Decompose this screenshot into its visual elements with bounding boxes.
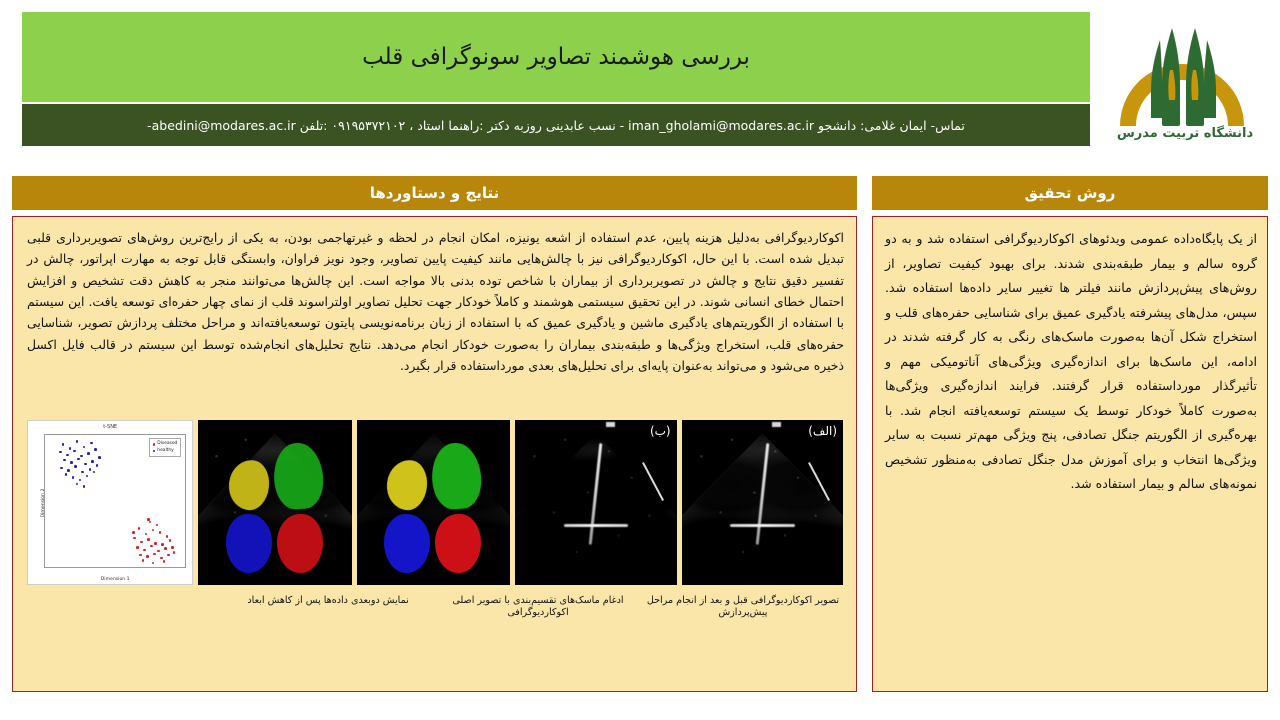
chart-title: t-SNE xyxy=(28,424,192,430)
method-panel: از یک پایگاه‌داده عمومی ویدئوهای اکوکارد… xyxy=(872,216,1268,692)
scatter-point xyxy=(62,443,65,446)
scatter-point xyxy=(96,464,99,467)
scatter-point xyxy=(154,542,157,545)
legend-swatch xyxy=(153,450,156,453)
scatter-point xyxy=(159,531,162,534)
figure-caption-2: نمایش دوبعدی داده‌ها پس از کاهش ابعاد xyxy=(223,595,433,617)
scatter-point xyxy=(83,485,86,488)
scatter-point xyxy=(70,461,73,464)
scatter-point xyxy=(67,469,70,472)
chart-legend: Diseasedhealthy xyxy=(149,438,182,457)
mask-green-left-ventricle xyxy=(430,441,484,510)
scatter-point xyxy=(161,543,164,546)
poster-header: بررسی هوشمند تصاویر سونوگرافی قلب تماس- … xyxy=(0,0,1280,165)
scatter-point xyxy=(93,471,96,474)
results-body-text: اکوکاردیوگرافی به‌دلیل هزینه پایین، عدم … xyxy=(27,227,844,376)
scatter-point xyxy=(89,468,92,471)
figure-segmentation-masks xyxy=(357,420,510,585)
scatter-point xyxy=(80,455,83,458)
contact-band: تماس- ایمان غلامی: دانشجو iman_gholami@m… xyxy=(22,104,1090,146)
scatter-point xyxy=(90,442,93,445)
method-body-text: از یک پایگاه‌داده عمومی ویدئوهای اکوکارد… xyxy=(885,227,1257,497)
scatter-point xyxy=(66,454,69,457)
ultrasound-cone-masked xyxy=(357,420,510,585)
results-panel: اکوکاردیوگرافی به‌دلیل هزینه پایین، عدم … xyxy=(12,216,857,692)
scatter-point xyxy=(143,549,146,552)
scatter-point xyxy=(145,533,148,536)
scatter-point xyxy=(76,440,79,443)
logo-caption: دانشگاه تربیت مدرس xyxy=(1100,126,1270,141)
figure-caption-1: ادغام ماسک‌های تقسیم‌بندی با تصویر اصلی … xyxy=(433,595,643,617)
scatter-point xyxy=(136,546,139,549)
ultrasound-cone-overlay xyxy=(198,420,351,585)
legend-item: Diseased xyxy=(153,441,178,448)
chart-xlabel: Dimension 1 xyxy=(44,577,186,582)
scatter-point xyxy=(139,554,142,557)
scatter-point xyxy=(142,559,145,562)
figure-captions: تصویر اکوکاردیوگرافی قبل و بعد از انجام … xyxy=(27,595,843,617)
figure-label-a: (الف) xyxy=(808,424,837,438)
scatter-point xyxy=(79,479,82,482)
scatter-point xyxy=(65,473,68,476)
scatter-point xyxy=(86,475,89,478)
scatter-point xyxy=(91,460,94,463)
figure-mask-overlay xyxy=(198,420,351,585)
scatter-point xyxy=(140,541,143,544)
scatter-point xyxy=(171,546,174,549)
scatter-point xyxy=(152,562,155,565)
section-header-method-label: روش تحقیق xyxy=(1025,184,1116,202)
legend-label: Diseased xyxy=(157,441,177,448)
scatter-point xyxy=(77,458,80,461)
scatter-point xyxy=(63,459,66,462)
scatter-point xyxy=(153,553,156,556)
scatter-point xyxy=(138,527,141,530)
scatter-point xyxy=(160,557,163,560)
scatter-point xyxy=(81,471,84,474)
scatter-point xyxy=(147,518,150,521)
university-logo: دانشگاه تربیت مدرس xyxy=(1100,14,1270,160)
legend-item: healthy xyxy=(153,448,178,455)
scatter-point xyxy=(69,447,72,450)
scatter-point xyxy=(163,560,166,563)
scatter-point xyxy=(147,538,150,541)
scatter-point xyxy=(169,539,172,542)
ultrasound-cone-raw xyxy=(682,420,843,585)
figure-echo-preprocessed: (ب) xyxy=(515,420,676,585)
scatter-point xyxy=(157,550,160,553)
scatter-point xyxy=(94,448,97,451)
scatter-point xyxy=(133,537,136,540)
contact-text: تماس- ایمان غلامی: دانشجو iman_gholami@m… xyxy=(147,118,965,133)
legend-swatch xyxy=(153,443,156,446)
figure-echo-raw: (الف) xyxy=(682,420,843,585)
section-header-method: روش تحقیق xyxy=(872,176,1268,210)
figure-strip: (الف) (ب) xyxy=(27,420,843,585)
figure-caption-0: تصویر اکوکاردیوگرافی قبل و بعد از انجام … xyxy=(643,595,843,617)
scatter-point xyxy=(83,446,86,449)
scatter-point xyxy=(132,531,135,534)
page-title: بررسی هوشمند تصاویر سونوگرافی قلب xyxy=(22,12,1090,102)
logo-mark xyxy=(1100,14,1270,134)
scatter-point xyxy=(173,551,176,554)
scatter-point xyxy=(166,535,169,538)
scatter-point xyxy=(59,451,62,454)
figure-caption-spacer xyxy=(27,595,223,617)
scatter-point xyxy=(146,555,149,558)
scatter-point xyxy=(149,521,152,524)
scatter-point xyxy=(76,483,79,486)
scatter-point xyxy=(156,524,159,527)
ultrasound-cone-preprocessed xyxy=(515,420,676,585)
scatter-point xyxy=(167,554,170,557)
scatter-point xyxy=(164,547,167,550)
chart-plot-area: Diseasedhealthy xyxy=(44,434,186,568)
scatter-point xyxy=(84,463,87,466)
section-header-results-label: نتایج و دستاوردها xyxy=(370,184,500,202)
section-header-results: نتایج و دستاوردها xyxy=(12,176,857,210)
scatter-point xyxy=(152,529,155,532)
scatter-point xyxy=(74,465,77,468)
figure-label-b: (ب) xyxy=(650,424,671,438)
scatter-point xyxy=(60,467,63,470)
scatter-point xyxy=(72,476,75,479)
scatter-point xyxy=(73,450,76,453)
mask-red-left-atrium xyxy=(435,514,481,573)
scatter-point xyxy=(98,456,101,459)
legend-label: healthy xyxy=(157,448,174,455)
scatter-point xyxy=(87,452,90,455)
scatter-point xyxy=(150,545,153,548)
tsne-scatter-plot: t-SNE Dimension 2 Dimension 1 Diseasedhe… xyxy=(27,420,193,585)
